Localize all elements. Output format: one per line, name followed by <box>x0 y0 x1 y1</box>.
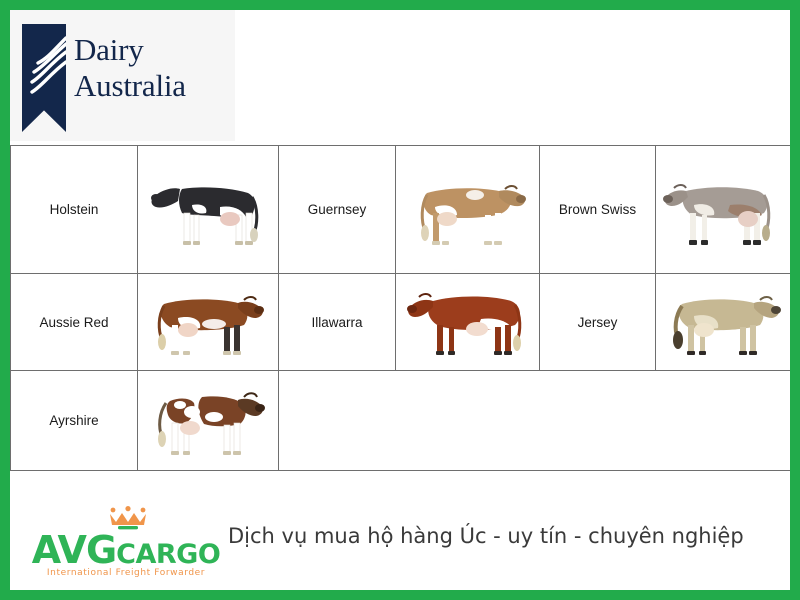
avg-cargo-logo[interactable]: AVGCARGO International Freight Forwarder <box>28 506 224 580</box>
footer-slogan: Dịch vụ mua hộ hàng Úc - uy tín - chuyên… <box>228 524 788 548</box>
table-row: Holstein <box>11 146 791 274</box>
dairy-australia-logo-plate: Dairy Australia <box>10 10 235 141</box>
breed-label-brown-swiss: Brown Swiss <box>540 146 656 274</box>
breed-image-aussie-red <box>138 274 279 371</box>
dairy-australia-wordmark: Dairy Australia <box>74 32 186 104</box>
header-band: Dairy Australia <box>10 10 790 145</box>
table-row: Ayrshire <box>11 371 791 471</box>
table-cell-empty <box>279 371 791 471</box>
avg-tagline: International Freight Forwarder <box>28 568 224 578</box>
breed-label-holstein: Holstein <box>11 146 138 274</box>
avg-secondary-text: CARGO <box>116 539 220 570</box>
dairy-australia-ribbon-logo-icon <box>22 24 66 132</box>
crown-icon <box>106 506 150 530</box>
avg-cargo-wordmark: AVGCARGO <box>28 528 224 572</box>
breed-image-holstein <box>138 146 279 274</box>
breed-label-ayrshire: Ayrshire <box>11 371 138 471</box>
brand-line-1: Dairy <box>74 32 186 68</box>
brand-line-2: Australia <box>74 68 186 104</box>
page-canvas: Dairy Australia Holstein <box>10 10 790 590</box>
page-frame: Dairy Australia Holstein <box>0 0 800 600</box>
footer-bar: AVGCARGO International Freight Forwarder… <box>10 498 790 590</box>
breed-label-jersey: Jersey <box>540 274 656 371</box>
dairy-breed-table: Holstein <box>10 145 790 471</box>
dairy-australia-logo: Dairy Australia <box>22 24 234 136</box>
breed-image-brown-swiss <box>656 146 791 274</box>
breed-image-guernsey <box>396 146 540 274</box>
breed-label-aussie-red: Aussie Red <box>11 274 138 371</box>
avg-primary-text: AVG <box>32 528 116 572</box>
breed-image-ayrshire <box>138 371 279 471</box>
breed-image-illawarra <box>396 274 540 371</box>
breed-image-jersey <box>656 274 791 371</box>
breed-label-guernsey: Guernsey <box>279 146 396 274</box>
table-row: Aussie Red <box>11 274 791 371</box>
breed-label-illawarra: Illawarra <box>279 274 396 371</box>
